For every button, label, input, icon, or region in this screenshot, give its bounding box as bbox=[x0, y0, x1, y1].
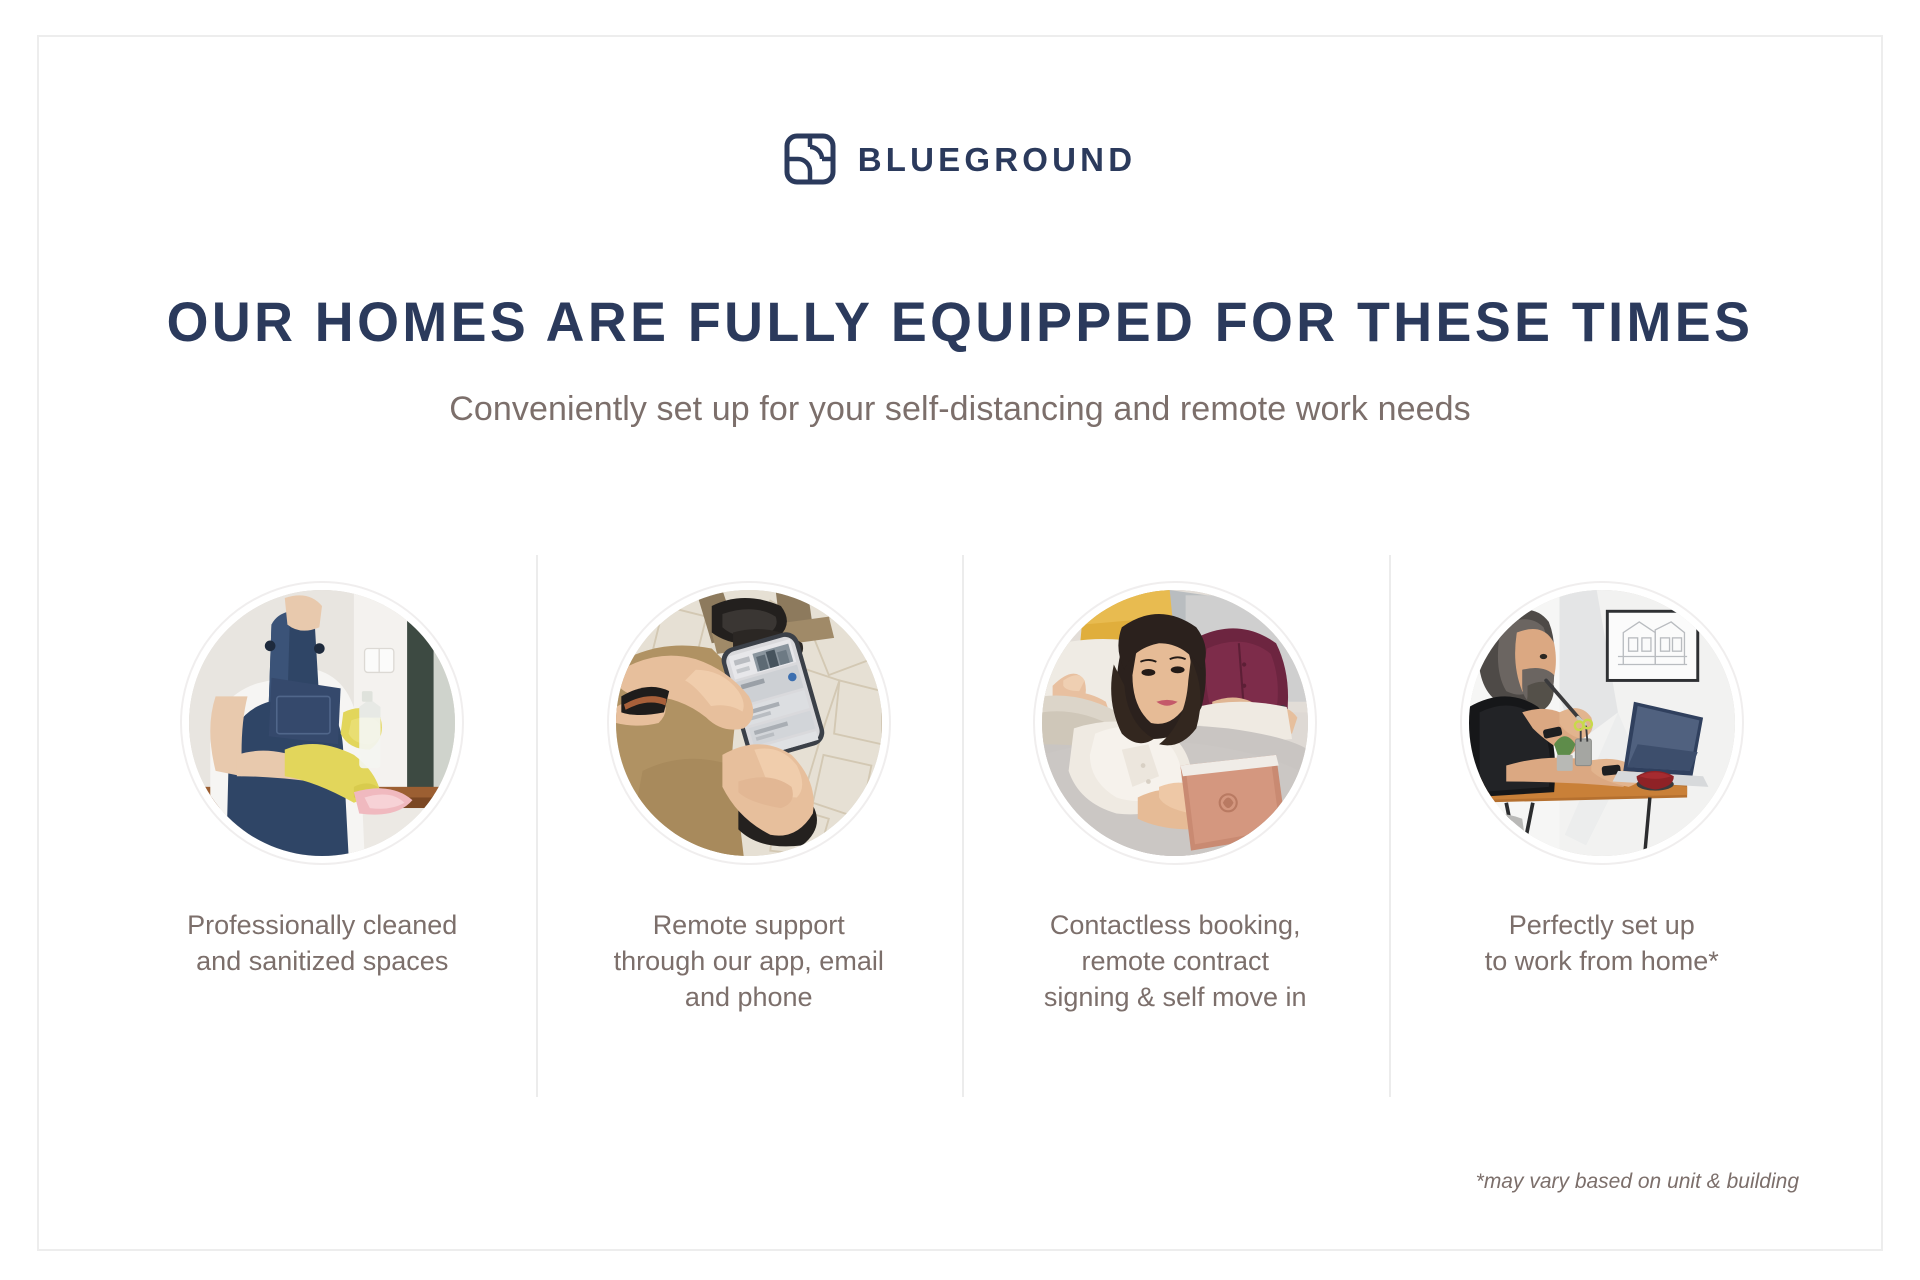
feature-photo-frame bbox=[1460, 581, 1744, 865]
feature-column-contactless-booking: Contactless booking, remote contract sig… bbox=[962, 555, 1389, 1097]
feature-caption: Professionally cleaned and sanitized spa… bbox=[179, 907, 465, 979]
feature-photo-frame bbox=[607, 581, 891, 865]
brand-lockup: BLUEGROUND bbox=[39, 133, 1881, 185]
feature-column-work-from-home: Perfectly set up to work from home* bbox=[1389, 555, 1816, 1097]
cleaning-photo bbox=[189, 590, 455, 856]
blueground-logo-icon bbox=[784, 133, 836, 185]
feature-caption: Perfectly set up to work from home* bbox=[1477, 907, 1727, 979]
feature-caption: Remote support through our app, email an… bbox=[606, 907, 892, 1016]
feature-column-remote-support: Remote support through our app, email an… bbox=[536, 555, 963, 1097]
phone-app-photo bbox=[616, 590, 882, 856]
footnote-disclaimer: *may vary based on unit & building bbox=[1476, 1170, 1799, 1194]
tablet-bed-photo bbox=[1042, 590, 1308, 856]
page-subtitle: Conveniently set up for your self-distan… bbox=[39, 390, 1881, 429]
poster-page: BLUEGROUND OUR HOMES ARE FULLY EQUIPPED … bbox=[0, 0, 1920, 1280]
poster-card: BLUEGROUND OUR HOMES ARE FULLY EQUIPPED … bbox=[37, 35, 1883, 1251]
work-from-home-photo bbox=[1469, 590, 1735, 856]
brand-name: BLUEGROUND bbox=[858, 143, 1137, 176]
page-title: OUR HOMES ARE FULLY EQUIPPED FOR THESE T… bbox=[76, 289, 1844, 354]
feature-photo-frame bbox=[180, 581, 464, 865]
feature-photo-frame bbox=[1033, 581, 1317, 865]
feature-column-cleaning: Professionally cleaned and sanitized spa… bbox=[109, 555, 536, 1097]
feature-columns: Professionally cleaned and sanitized spa… bbox=[109, 555, 1815, 1097]
feature-caption: Contactless booking, remote contract sig… bbox=[1036, 907, 1315, 1016]
